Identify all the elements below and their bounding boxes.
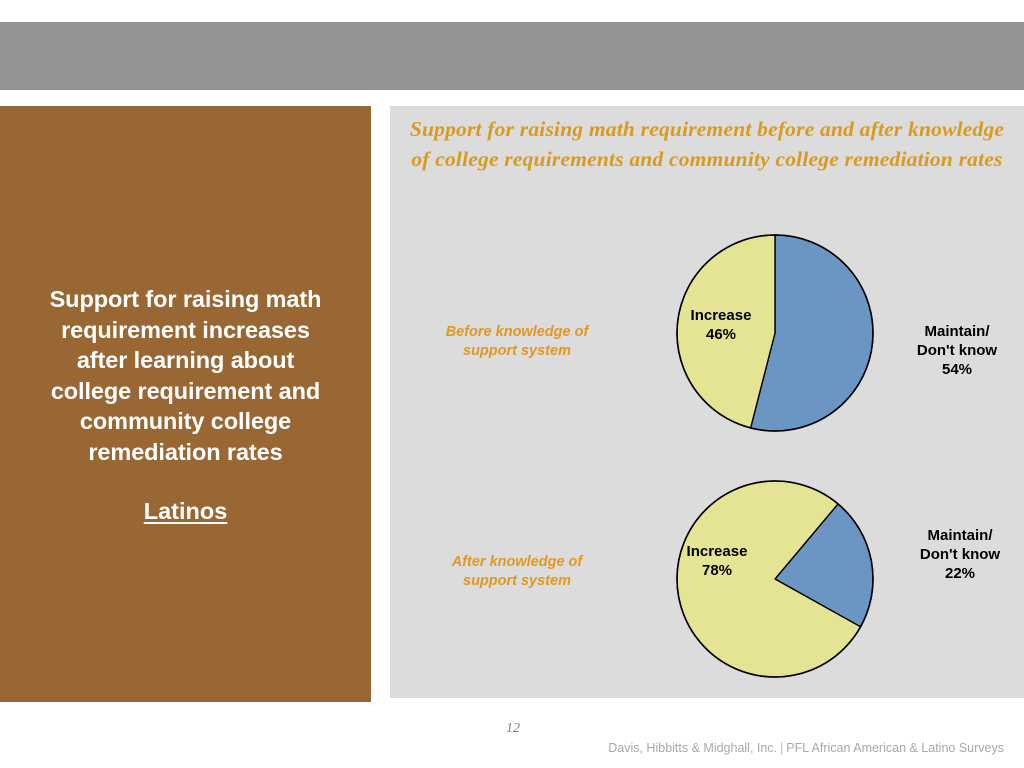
pie-after-maintain-label: Maintain/Don't know22% xyxy=(885,526,1024,583)
pie-before-maintain-label: Maintain/Don't know54% xyxy=(882,322,1024,379)
pie-chart-after: After knowledge ofsupport system Increas… xyxy=(390,466,1024,691)
pie-after-increase-category: Increase xyxy=(687,543,748,560)
pie-chart-before: Before knowledge ofsupport system Increa… xyxy=(390,222,1024,452)
chart-title: Support for raising math requirement bef… xyxy=(398,114,1016,174)
pie-after-maintain-value: 22% xyxy=(945,565,975,582)
page-number: 12 xyxy=(506,721,520,737)
chart-panel: Support for raising math requirement bef… xyxy=(390,106,1024,698)
pie-before-increase-category: Increase xyxy=(691,307,752,324)
pie-before-maintain-value: 54% xyxy=(942,361,972,378)
left-summary-panel: Support for raising mathrequirement incr… xyxy=(0,106,371,702)
footer-separator: | xyxy=(777,741,786,755)
pie-after-maintain-category: Maintain/Don't know xyxy=(920,527,1000,563)
pie-before-increase-label: Increase46% xyxy=(666,306,776,344)
pie-before-maintain-category: Maintain/Don't know xyxy=(917,323,997,359)
pie-after-caption: After knowledge ofsupport system xyxy=(398,553,636,591)
left-panel-subject-label: Latinos xyxy=(144,498,228,525)
pie-before-increase-value: 46% xyxy=(706,326,736,343)
pie-after-increase-label: Increase78% xyxy=(662,542,772,580)
left-panel-headline: Support for raising mathrequirement incr… xyxy=(50,284,322,467)
pie-before-caption: Before knowledge ofsupport system xyxy=(398,323,636,361)
footer-credit: Davis, Hibbitts & Midghall, Inc.|PFL Afr… xyxy=(608,741,1004,755)
footer-organization: Davis, Hibbitts & Midghall, Inc. xyxy=(608,741,777,755)
top-banner-bar xyxy=(0,22,1024,90)
pie-after-increase-value: 78% xyxy=(702,562,732,579)
footer-survey: PFL African American & Latino Surveys xyxy=(786,741,1004,755)
